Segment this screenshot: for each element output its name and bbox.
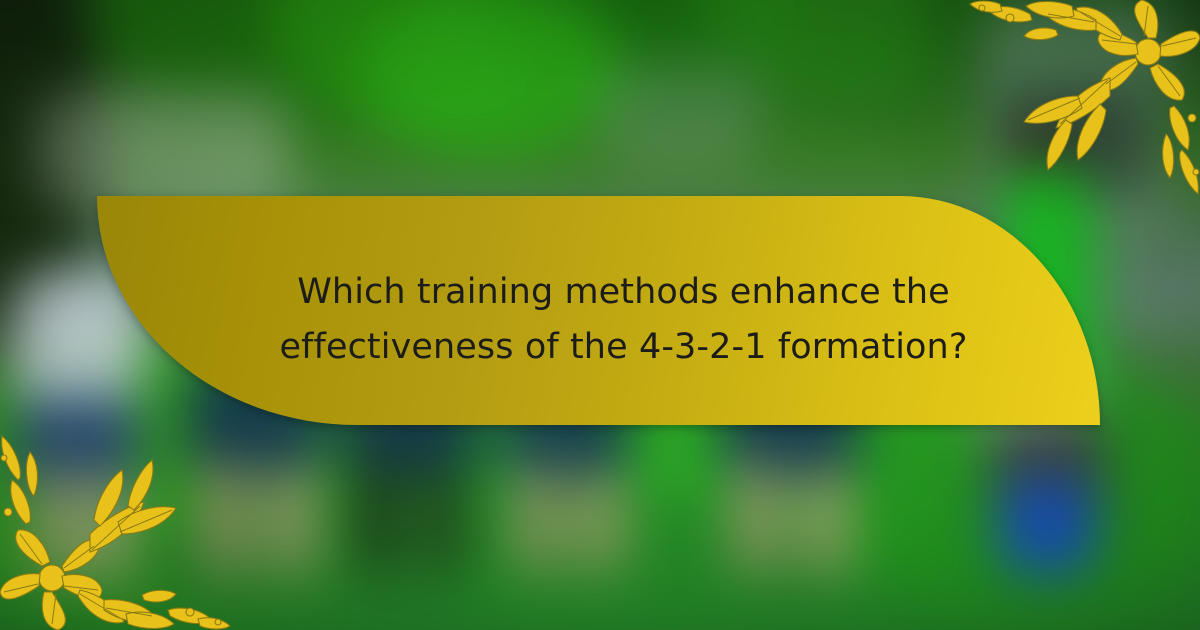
headline-banner: Which training methods enhance the effec… (97, 196, 1100, 425)
headline-text: Which training methods enhance the effec… (204, 247, 994, 374)
